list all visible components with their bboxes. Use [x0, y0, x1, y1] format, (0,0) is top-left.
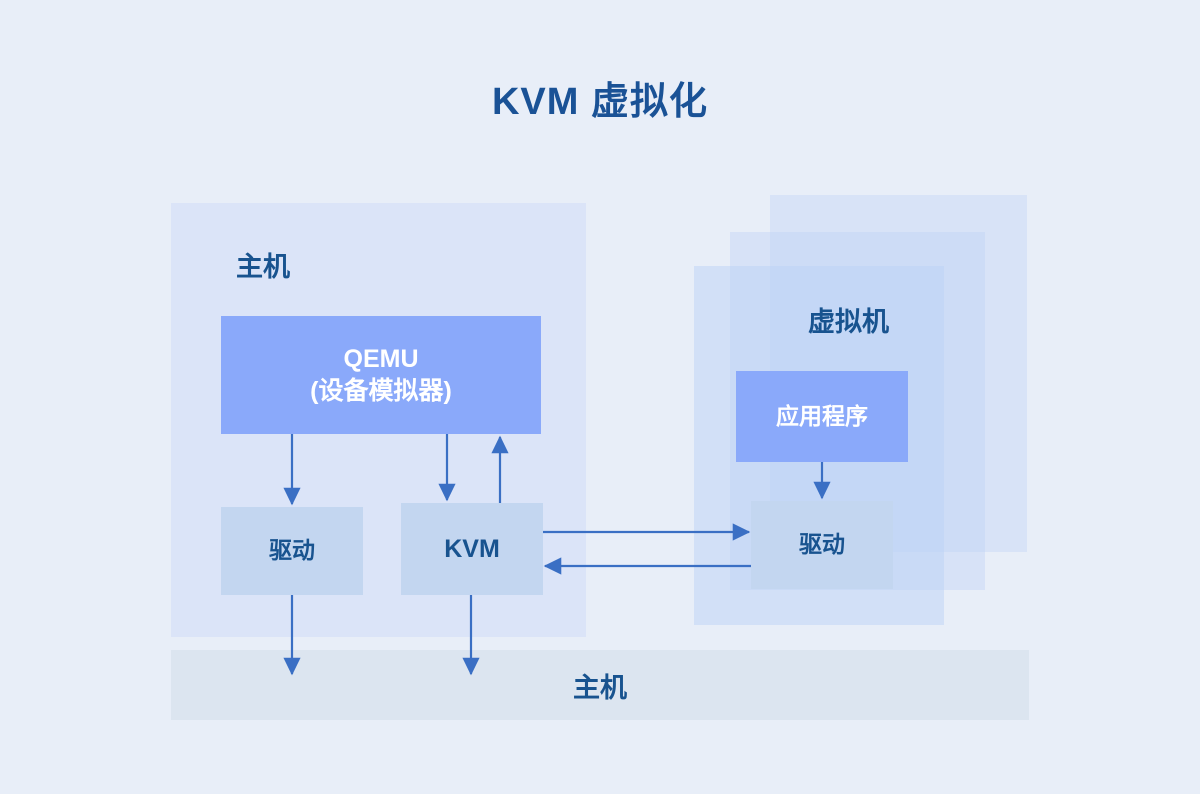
vm-driver-box-label: 驱动 [799, 530, 845, 560]
application-box-label: 应用程序 [776, 402, 868, 432]
diagram-canvas: KVM 虚拟化 主机 虚拟机 主机 QEMU (设备模拟器) 驱动 KVM 应用… [0, 0, 1200, 794]
vm-panel-label: 虚拟机 [808, 300, 889, 339]
qemu-box[interactable]: QEMU (设备模拟器) [221, 316, 541, 434]
hardware-bar-label: 主机 [171, 650, 1029, 720]
host-driver-box[interactable]: 驱动 [221, 507, 363, 595]
page-title: KVM 虚拟化 [0, 78, 1200, 126]
application-box[interactable]: 应用程序 [736, 371, 908, 462]
kvm-box[interactable]: KVM [401, 503, 543, 595]
qemu-box-title: QEMU [310, 343, 452, 376]
host-driver-box-label: 驱动 [269, 536, 315, 566]
host-panel-label: 主机 [236, 245, 290, 284]
kvm-box-label: KVM [444, 533, 500, 566]
vm-driver-box[interactable]: 驱动 [751, 501, 893, 589]
qemu-box-subtitle: (设备模拟器) [310, 375, 452, 408]
